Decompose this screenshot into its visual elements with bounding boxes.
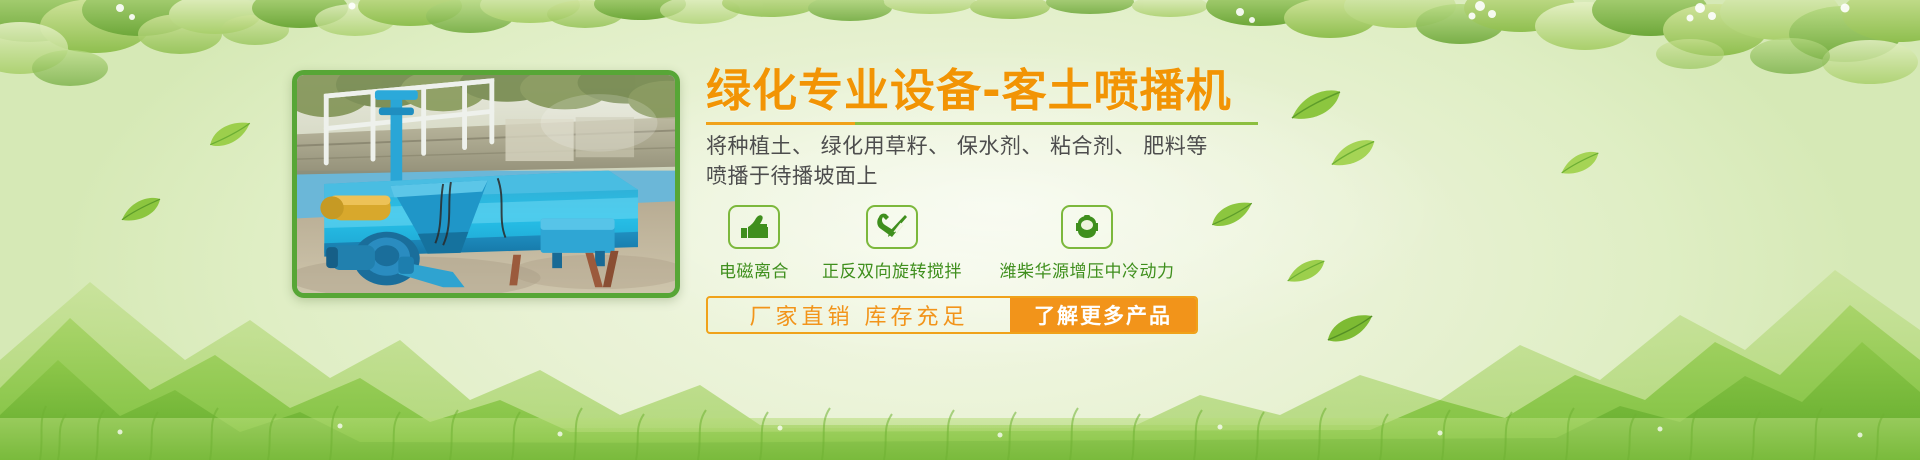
feature-icon-box — [728, 205, 780, 249]
cta-bar: 厂家直销 库存充足 了解更多产品 — [706, 296, 1198, 334]
floating-leaf-icon — [120, 196, 162, 223]
feature-label: 潍柴华源增压中冷动力 — [982, 257, 1192, 282]
thumbs-up-icon — [739, 213, 769, 241]
floating-leaf-icon — [208, 120, 252, 148]
promo-banner: 绿化专业设备-客土喷播机 将种植土、 绿化用草籽、 保水剂、 粘合剂、 肥料等 … — [0, 0, 1920, 460]
floating-leaf-icon — [1560, 150, 1600, 176]
feature-list: 电磁离合 正反双向旋转搅拌 — [706, 205, 1326, 282]
page-title: 绿化专业设备-客土喷播机 — [706, 66, 1326, 116]
feature-item-electromagnetic-clutch: 电磁离合 — [706, 205, 802, 282]
engine-gear-icon — [1072, 213, 1102, 241]
product-photo — [297, 75, 675, 293]
product-photo-frame — [292, 70, 680, 298]
cta-slogan: 厂家直销 库存充足 — [708, 298, 1010, 332]
feature-icon-box — [1061, 205, 1113, 249]
feature-item-weichai-power: 潍柴华源增压中冷动力 — [982, 205, 1192, 282]
floating-leaf-icon — [1330, 138, 1376, 168]
floating-leaf-icon — [1326, 312, 1374, 344]
feature-label: 正反双向旋转搅拌 — [802, 257, 982, 282]
feature-item-bidirectional-mixing: 正反双向旋转搅拌 — [802, 205, 982, 282]
product-photo-svg — [297, 75, 675, 293]
subtitle-line-1: 将种植土、 绿化用草籽、 保水剂、 粘合剂、 肥料等 — [706, 132, 1326, 161]
learn-more-button[interactable]: 了解更多产品 — [1010, 298, 1196, 332]
feature-icon-box — [866, 205, 918, 249]
grass-decoration — [0, 340, 1920, 460]
subtitle-line-2: 喷播于待播坡面上 — [706, 162, 1326, 191]
title-divider — [706, 122, 1258, 125]
grass-svg — [0, 340, 1920, 460]
wrench-screwdriver-icon — [876, 213, 908, 241]
banner-content: 绿化专业设备-客土喷播机 将种植土、 绿化用草籽、 保水剂、 粘合剂、 肥料等 … — [706, 66, 1326, 334]
feature-label: 电磁离合 — [706, 257, 802, 282]
